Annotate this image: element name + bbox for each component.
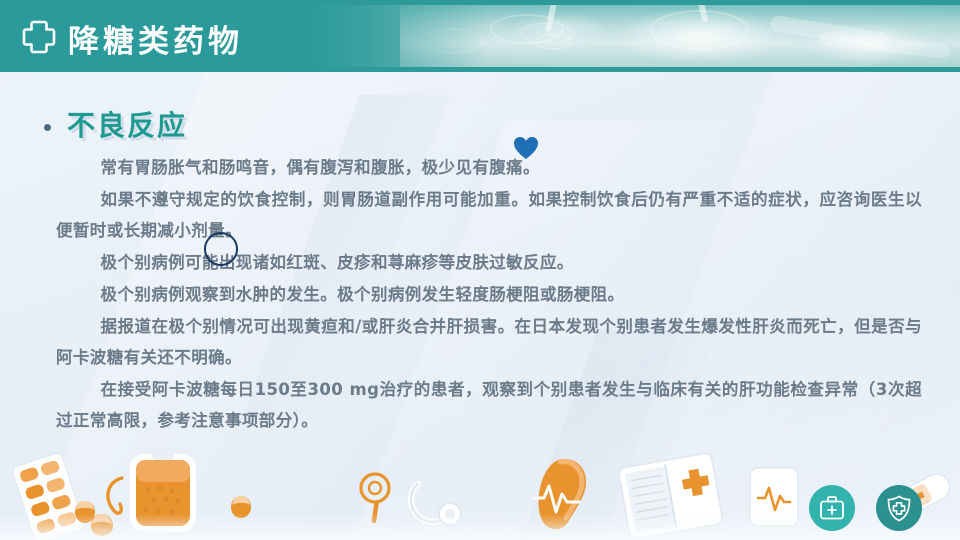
shield-button[interactable] [876, 485, 922, 531]
paragraph: 在接受阿卡波糖每日150至300 mg治疗的患者，观察到个别患者发生与临床有关的… [56, 374, 922, 436]
medical-cross-icon [22, 20, 56, 54]
section-heading-label: 不良反应 [67, 104, 187, 144]
medical-kit-button[interactable] [809, 485, 855, 531]
header-top-bar [0, 0, 960, 5]
header-bottom-bar [0, 67, 960, 72]
slide: 降糖类药物 不良反应 常有胃肠胀气和肠鸣音，偶有腹泻和腹胀，极少见有腹痛。 如果… [0, 0, 960, 540]
body-content: 常有胃肠胀气和肠鸣音，偶有腹泻和腹胀，极少见有腹痛。 如果不遵守规定的饮食控制，… [56, 152, 922, 437]
heart-cursor [513, 136, 539, 160]
paragraph: 极个别病例可能出现诸如红斑、皮疹和荨麻疹等皮肤过敏反应。 [56, 247, 922, 278]
paragraph: 据报道在极个别情况可出现黄疸和/或肝炎合并肝损害。在日本发现个别患者发生爆发性肝… [56, 311, 922, 373]
shield-cross-icon [886, 495, 912, 522]
bullet-icon [44, 124, 51, 131]
header-gradient-fade [300, 0, 490, 72]
paragraph: 常有胃肠胀气和肠鸣音，偶有腹泻和腹胀，极少见有腹痛。 [56, 152, 922, 183]
page-title: 降糖类药物 [68, 16, 243, 61]
paragraph: 极个别病例观察到水肿的发生。极个别病例发生轻度肠梗阻或肠梗阻。 [56, 279, 922, 310]
medical-kit-icon [819, 496, 845, 520]
section-heading: 不良反应 [44, 104, 187, 144]
paragraph: 如果不遵守规定的饮食控制，则胃肠道副作用可能加重。如果控制饮食后仍有严重不适的症… [56, 184, 922, 246]
